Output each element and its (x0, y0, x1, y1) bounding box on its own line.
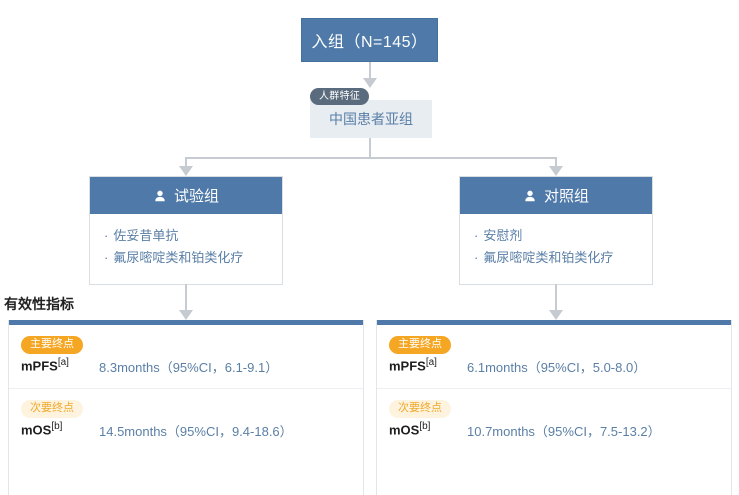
secondary-endpoint-badge: 次要终点 (21, 400, 83, 418)
control-arm-item-0: 安慰剂 (483, 226, 522, 246)
subgroup-box: 中国患者亚组 (310, 100, 432, 138)
connector-split-right (369, 157, 556, 159)
endpoint-name: mPFS[a] (21, 357, 99, 373)
subgroup-label: 中国患者亚组 (329, 109, 413, 129)
bullet-icon: · (474, 226, 478, 246)
endpoint-value: 8.3months（95%CI，6.1-9.1） (99, 357, 351, 378)
connector-drop-left (185, 157, 187, 166)
enrollment-label: 入组（N=145） (311, 28, 427, 52)
experimental-arm-item-1: 氟尿嘧啶类和铂类化疗 (113, 248, 243, 268)
endpoint-row: 次要终点 mOS[b] 10.7months（95%CI，7.5-13.2） (377, 388, 731, 452)
endpoint-name: mPFS[a] (389, 357, 467, 373)
endpoint-row: 主要终点 mPFS[a] 6.1months（95%CI，5.0-8.0） (377, 325, 731, 388)
control-arm-header: 对照组 (460, 177, 652, 214)
enrollment-box: 入组（N=145） (301, 18, 438, 62)
person-icon (523, 189, 537, 203)
experimental-arm-header: 试验组 (90, 177, 282, 214)
endpoint-line: mPFS[a] 8.3months（95%CI，6.1-9.1） (21, 357, 351, 378)
connector-subgroup-stem (369, 138, 371, 159)
secondary-endpoint-badge: 次要终点 (389, 400, 451, 418)
experimental-arm-title: 试验组 (174, 185, 219, 206)
arrow-control-to-results (549, 310, 563, 320)
arrow-to-control-arm (549, 166, 563, 176)
arrow-to-experimental-arm (179, 166, 193, 176)
endpoint-name-text: mOS (389, 422, 419, 437)
connector-enrollment-to-subgroup (369, 62, 371, 78)
control-arm-title: 对照组 (544, 185, 589, 206)
bullet-icon: · (104, 226, 108, 246)
control-arm-item-1: 氟尿嘧啶类和铂类化疗 (483, 248, 613, 268)
experimental-arm-body: · 佐妥昔单抗 · 氟尿嘧啶类和铂类化疗 (90, 214, 282, 284)
endpoint-footnote: [b] (51, 421, 62, 432)
control-arm-box: 对照组 · 安慰剂 · 氟尿嘧啶类和铂类化疗 (459, 176, 653, 285)
connector-split-left (186, 157, 371, 159)
endpoint-line: mPFS[a] 6.1months（95%CI，5.0-8.0） (389, 357, 719, 378)
experimental-arm-item-0: 佐妥昔单抗 (113, 226, 178, 246)
endpoint-name-text: mPFS (21, 358, 58, 373)
endpoint-footnote: [b] (419, 421, 430, 432)
endpoint-name: mOS[b] (21, 421, 99, 437)
list-item: · 氟尿嘧啶类和铂类化疗 (474, 248, 638, 268)
endpoint-value: 14.5months（95%CI，9.4-18.6） (99, 421, 351, 442)
person-icon (153, 189, 167, 203)
primary-endpoint-badge: 主要终点 (389, 336, 451, 354)
connector-drop-right (555, 157, 557, 166)
endpoint-row: 主要终点 mPFS[a] 8.3months（95%CI，6.1-9.1） (9, 325, 363, 388)
arrow-experimental-to-results (179, 310, 193, 320)
endpoint-name-text: mOS (21, 422, 51, 437)
endpoint-line: mOS[b] 10.7months（95%CI，7.5-13.2） (389, 421, 719, 442)
endpoint-value: 10.7months（95%CI，7.5-13.2） (467, 421, 719, 442)
bullet-icon: · (474, 248, 478, 268)
control-results-card: 主要终点 mPFS[a] 6.1months（95%CI，5.0-8.0） 次要… (376, 320, 732, 495)
population-tag-label: 人群特征 (319, 91, 360, 102)
primary-endpoint-badge: 主要终点 (21, 336, 83, 354)
list-item: · 氟尿嘧啶类和铂类化疗 (104, 248, 268, 268)
endpoint-name-text: mPFS (389, 358, 426, 373)
endpoint-footnote: [a] (58, 357, 69, 368)
list-item: · 佐妥昔单抗 (104, 226, 268, 246)
endpoint-value: 6.1months（95%CI，5.0-8.0） (467, 357, 719, 378)
experimental-arm-box: 试验组 · 佐妥昔单抗 · 氟尿嘧啶类和铂类化疗 (89, 176, 283, 285)
flowchart-canvas: 入组（N=145） 中国患者亚组 人群特征 试验组 · 佐妥昔单抗 (0, 0, 739, 495)
efficacy-section-label: 有效性指标 (4, 294, 74, 314)
arrow-enrollment-to-subgroup (363, 78, 377, 88)
experimental-results-card: 主要终点 mPFS[a] 8.3months（95%CI，6.1-9.1） 次要… (8, 320, 364, 495)
connector-control-to-results (555, 284, 557, 310)
population-characteristic-tag: 人群特征 (310, 88, 369, 105)
endpoint-row: 次要终点 mOS[b] 14.5months（95%CI，9.4-18.6） (9, 388, 363, 452)
bullet-icon: · (104, 248, 108, 268)
endpoint-name: mOS[b] (389, 421, 467, 437)
list-item: · 安慰剂 (474, 226, 638, 246)
endpoint-footnote: [a] (426, 357, 437, 368)
endpoint-line: mOS[b] 14.5months（95%CI，9.4-18.6） (21, 421, 351, 442)
control-arm-body: · 安慰剂 · 氟尿嘧啶类和铂类化疗 (460, 214, 652, 284)
connector-experimental-to-results (185, 284, 187, 310)
